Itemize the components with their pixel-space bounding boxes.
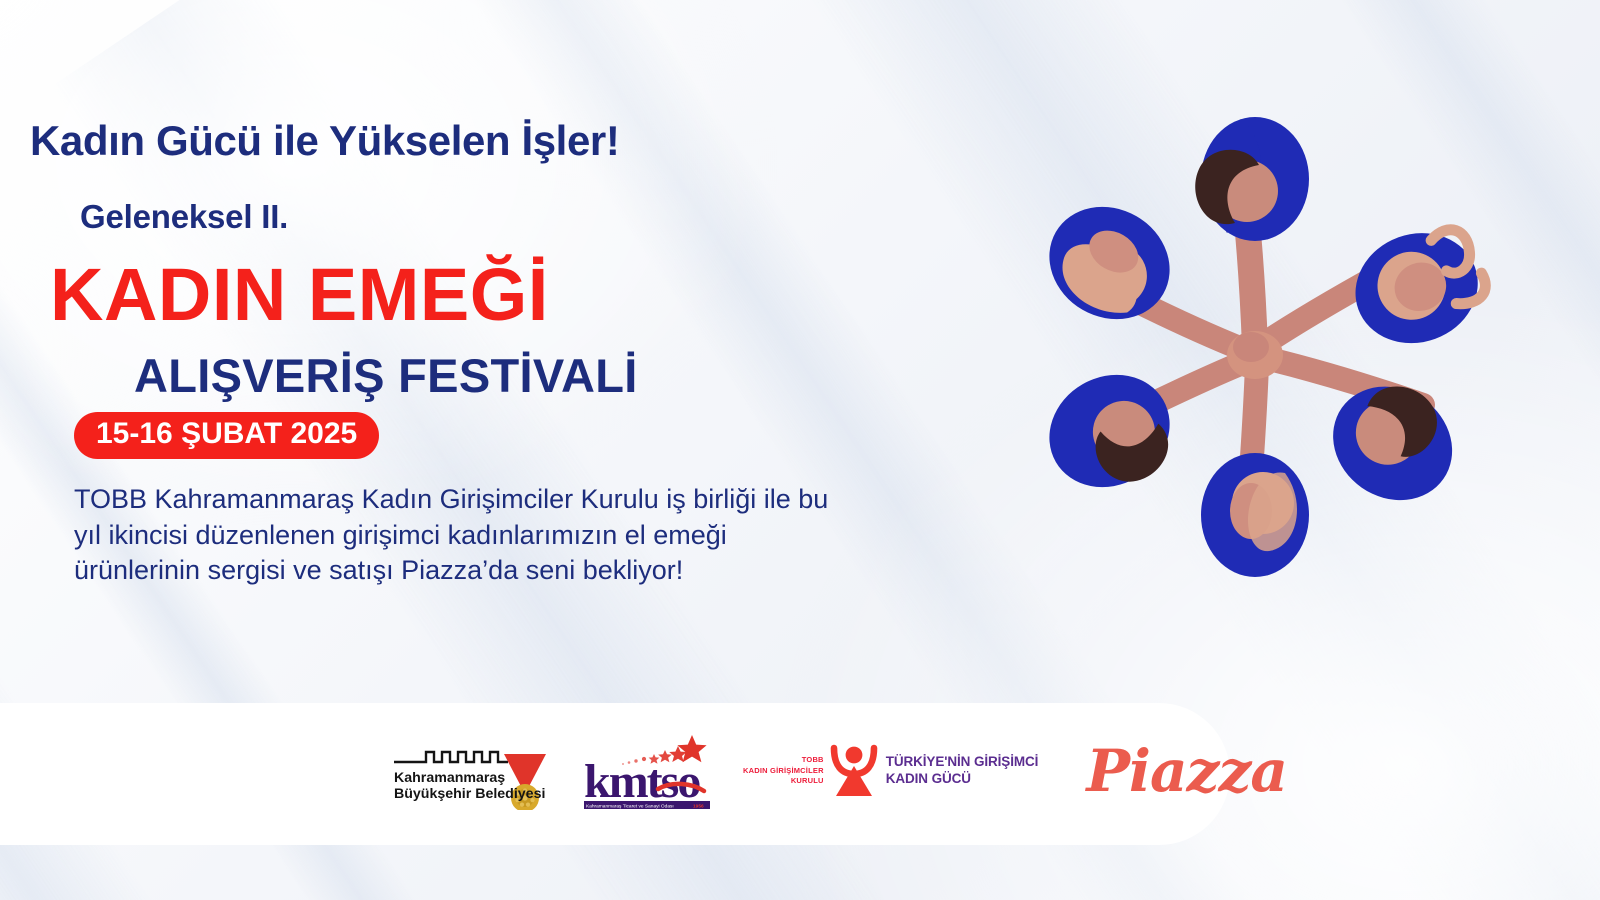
- event-promo-banner: Kadın Gücü ile Yükselen İşler! Gelenekse…: [0, 0, 1600, 900]
- logo-kmtso[interactable]: kmtso Kahramanmaraş Ticaret ve Sanayi Od…: [580, 731, 715, 811]
- women-circle-illustration: [985, 75, 1525, 615]
- kbb-line2: Büyükşehir Belediyesi: [394, 786, 545, 802]
- tobb-line2: KADIN GİRİŞİMCİLER: [743, 766, 824, 777]
- tobb-line1: TOBB: [743, 755, 824, 766]
- logo-kahramanmaras-buyuksehir-belediyesi[interactable]: Kahramanmaraş Büyükşehir Belediyesi: [392, 732, 552, 810]
- tobb-slogan-line1: TÜRKİYE'NİN GİRİŞİMCİ: [886, 754, 1039, 771]
- logo-tobb-kadin-girisimciler-kurulu[interactable]: TOBB KADIN GİRİŞİMCİLER KURULU TÜRKİYE'N…: [743, 744, 1038, 798]
- sponsor-logo-strip: Kahramanmaraş Büyükşehir Belediyesi: [392, 726, 1287, 816]
- kmtso-wordmark: kmtso: [584, 755, 700, 808]
- tobb-woman-symbol-icon: [830, 744, 878, 798]
- logo-piazza[interactable]: Piazza: [1086, 742, 1287, 800]
- tobb-slogan-line2: KADIN GÜCÜ: [886, 771, 1039, 788]
- tobb-slogan: TÜRKİYE'NİN GİRİŞİMCİ KADIN GÜCÜ: [886, 754, 1039, 788]
- kbb-line1: Kahramanmaraş: [394, 770, 505, 786]
- kmtso-caption: Kahramanmaraş Ticaret ve Sanayi Odası: [586, 804, 674, 810]
- tobb-line3: KURULU: [743, 776, 824, 787]
- kmtso-year: 1956: [693, 804, 704, 810]
- date-badge[interactable]: 15-16 ŞUBAT 2025: [74, 412, 379, 459]
- tobb-council-text: TOBB KADIN GİRİŞİMCİLER KURULU: [743, 755, 824, 787]
